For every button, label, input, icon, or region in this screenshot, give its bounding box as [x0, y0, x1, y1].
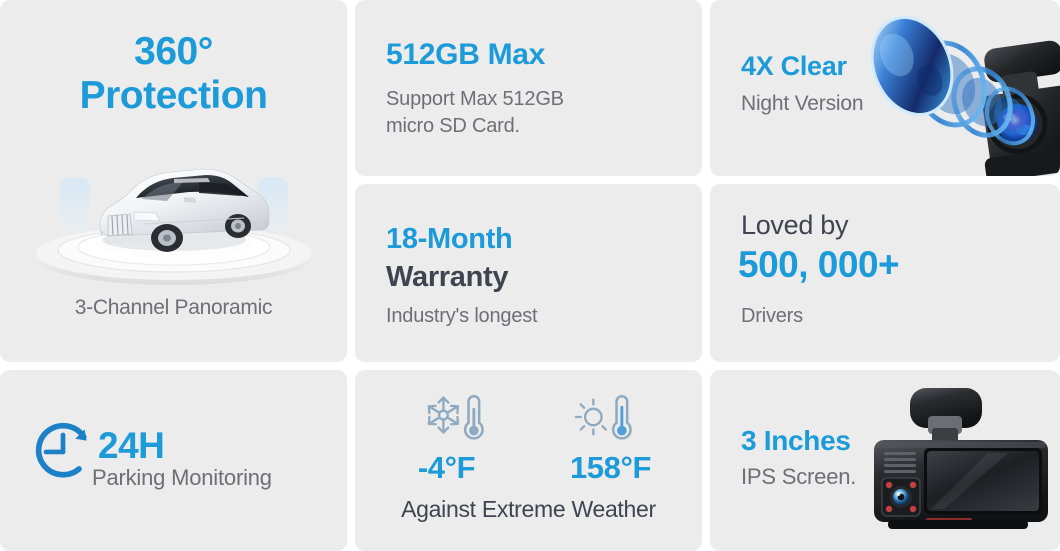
warranty-headline-blue: 18-Month: [386, 225, 512, 254]
feature-card-loved-by: Loved by 500, 000+ Drivers: [710, 184, 1060, 362]
feature-card-ips-screen: 3 Inches IPS Screen.: [710, 370, 1060, 551]
night-subline: Night Version: [741, 93, 863, 114]
loved-headline: Loved by: [741, 212, 848, 239]
feature-card-parking-monitoring: 24H Parking Monitoring: [0, 370, 347, 551]
car-on-pedestal-360-coverage-illustration: [24, 150, 324, 300]
screen-headline: 3 Inches: [741, 427, 851, 455]
parking-subline: Parking Monitoring: [92, 467, 272, 489]
storage-headline: 512GB Max: [386, 40, 545, 70]
temperature-values-row: -4°F 158°F: [355, 452, 702, 483]
screen-subline: IPS Screen.: [741, 466, 856, 488]
warranty-subline: Industry's longest: [386, 306, 537, 326]
feature-grid: 512GB Max Support Max 512GB micro SD Car…: [0, 0, 1060, 551]
sun-thermometer-icon: [572, 388, 634, 451]
clock-icon: [30, 418, 96, 489]
feature-card-night-vision: 4X Clear Night Version: [710, 0, 1060, 176]
night-headline: 4X Clear: [741, 53, 847, 80]
dashcam-lens-elements-illustration: [866, 4, 1060, 176]
warranty-headline-dark: Warranty: [386, 263, 508, 292]
dashcam-rear-ips-screen-illustration: [868, 378, 1054, 546]
temperature-hot-value: 158°F: [557, 452, 665, 483]
parking-headline: 24H: [98, 427, 164, 464]
feature-card-warranty: 18-Month Warranty Industry's longest: [355, 184, 702, 362]
feature-card-360-protection: 360° Protection: [0, 0, 347, 362]
protection-headline: 360° Protection: [0, 30, 347, 118]
feature-card-temperature: -4°F 158°F Against Extreme Weather: [355, 370, 702, 551]
temperature-icon-row: [355, 388, 702, 451]
temperature-cold-value: -4°F: [393, 452, 501, 483]
loved-count: 500, 000+: [738, 246, 899, 283]
temperature-caption: Against Extreme Weather: [355, 496, 702, 523]
feature-card-storage: 512GB Max Support Max 512GB micro SD Car…: [355, 0, 702, 176]
protection-caption: 3-Channel Panoramic: [0, 296, 347, 320]
storage-body: Support Max 512GB micro SD Card.: [386, 86, 564, 140]
loved-subline: Drivers: [741, 306, 803, 326]
snowflake-thermometer-icon: [424, 388, 486, 451]
